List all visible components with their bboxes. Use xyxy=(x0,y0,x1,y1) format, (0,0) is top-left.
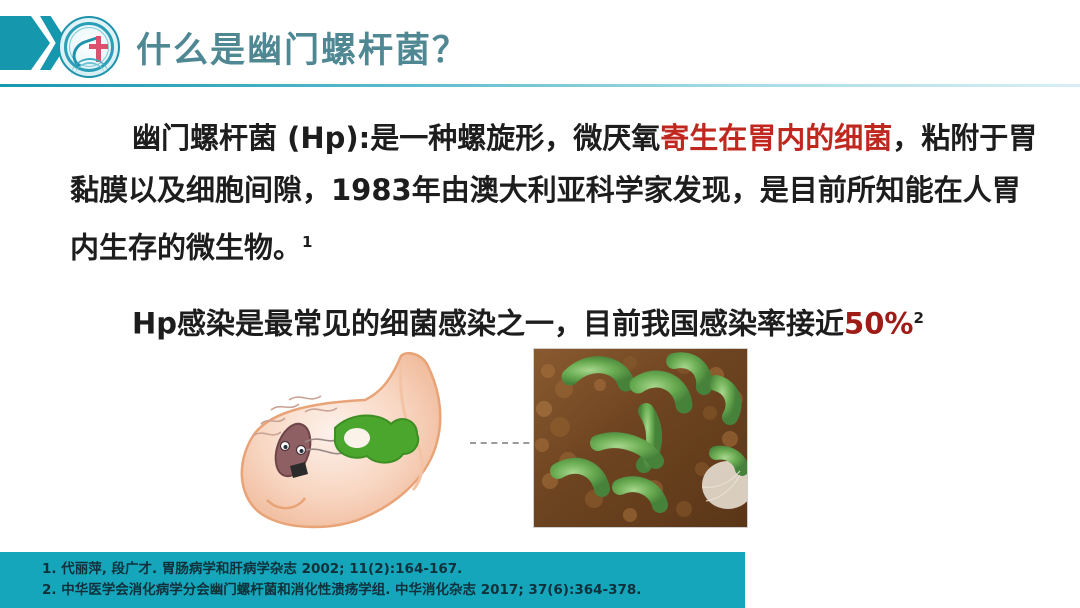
reference-marker-1: 1 xyxy=(302,233,312,251)
helicobacter-sem-photo xyxy=(533,348,748,528)
hospital-emblem-icon xyxy=(58,16,120,78)
bacterium-pupil-left xyxy=(284,445,288,449)
sem-photo-svg xyxy=(534,349,747,527)
emblem-cross-horizontal xyxy=(89,44,108,49)
page-title: 什么是幽门螺杆菌？ xyxy=(136,22,469,73)
dashed-connector-line xyxy=(470,442,540,444)
references-footer: 1. 代丽萍, 段广才. 胃肠病学和肝病学杂志 2002; 11(2):164-… xyxy=(0,552,745,608)
emblem-cross-vertical xyxy=(96,36,101,62)
paragraph-prevalence: Hp感染是最常见的细菌感染之一，目前我国感染率接近50%2 xyxy=(0,292,1080,350)
bacterium-pupil-right xyxy=(300,449,304,453)
paragraph-prevalence-part1: Hp感染是最常见的细菌感染之一，目前我国感染率接近 xyxy=(132,306,844,340)
chevron-right-icon xyxy=(0,16,50,70)
header-divider xyxy=(0,84,1080,87)
stomach-illustration xyxy=(205,350,505,540)
paragraph-prevalence-highlight: 50% xyxy=(844,306,913,340)
slide-canvas: 什么是幽门螺杆菌？ 幽门螺杆菌 (Hp):是一种螺旋形，微厌氧寄生在胃内的细菌，… xyxy=(0,0,1080,608)
slide-header: 什么是幽门螺杆菌？ xyxy=(0,0,1080,86)
paragraph-definition: 幽门螺杆菌 (Hp):是一种螺旋形，微厌氧寄生在胃内的细菌，粘附于胃黏膜以及细胞… xyxy=(0,112,1080,274)
reference-line-1: 1. 代丽萍, 段广才. 胃肠病学和肝病学杂志 2002; 11(2):164-… xyxy=(42,559,745,580)
slide-body: 幽门螺杆菌 (Hp):是一种螺旋形，微厌氧寄生在胃内的细菌，粘附于胃黏膜以及细胞… xyxy=(0,112,1080,349)
paragraph-definition-part1: 幽门螺杆菌 (Hp):是一种螺旋形，微厌氧 xyxy=(132,121,660,155)
stomach-svg xyxy=(205,350,505,540)
paragraph-definition-highlight: 寄生在胃内的细菌 xyxy=(660,121,892,155)
reference-marker-2: 2 xyxy=(913,309,923,327)
figure-group xyxy=(0,348,1080,548)
reference-line-2: 2. 中华医学会消化病学分会幽门螺杆菌和消化性溃疡学组. 中华消化杂志 2017… xyxy=(42,580,745,601)
